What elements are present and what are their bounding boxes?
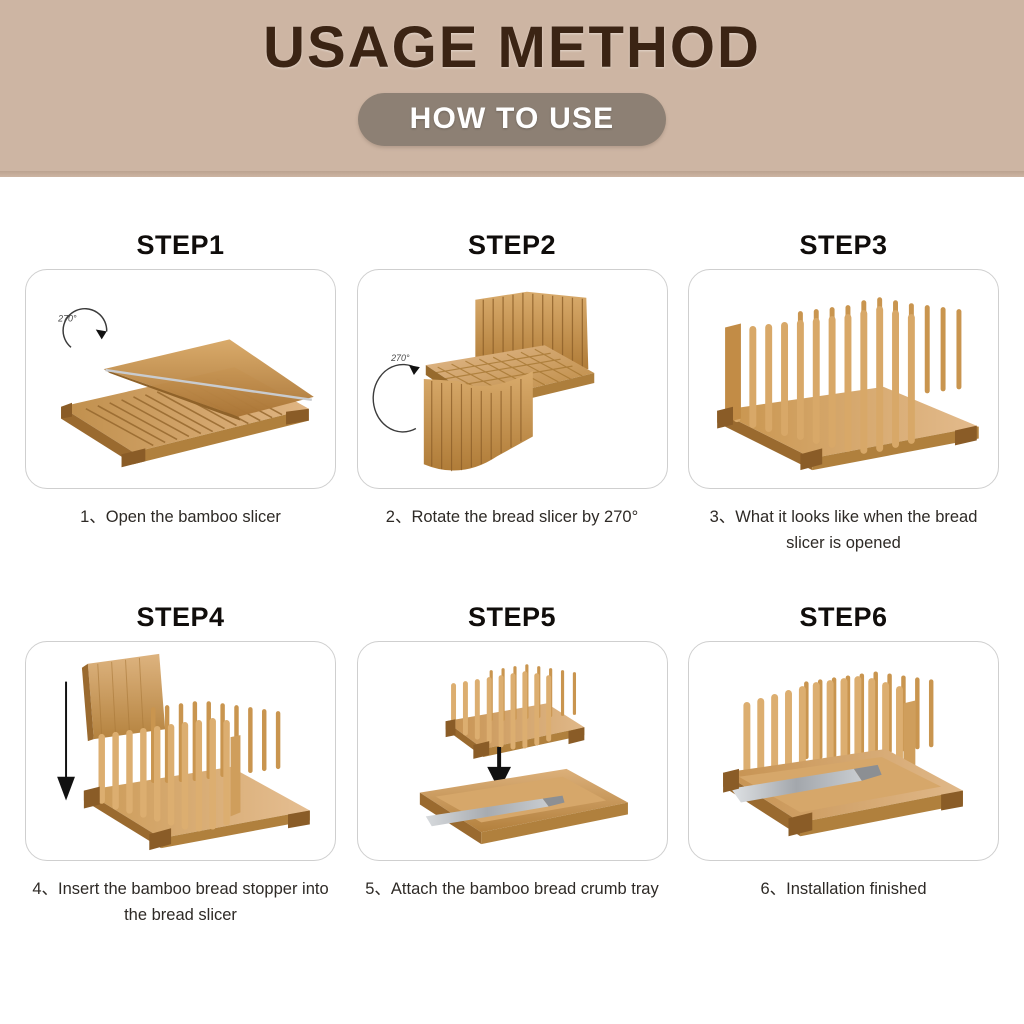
step-card-1: STEP1 xyxy=(20,232,341,530)
slicer-open-illustration xyxy=(717,300,979,470)
step-label-6: STEP6 xyxy=(799,604,887,631)
step-image-4 xyxy=(25,641,336,861)
slicer-rotated-illustration xyxy=(423,292,593,471)
assembled-slicer-illustration xyxy=(723,674,963,837)
page-title: USAGE METHOD xyxy=(263,17,761,80)
steps-row-1: STEP1 xyxy=(20,232,1004,556)
step-label-3: STEP3 xyxy=(799,232,887,259)
step-image-6 xyxy=(688,641,999,861)
slicer-base-illustration xyxy=(61,339,314,467)
rotation-arrow-270: 270° xyxy=(373,353,420,432)
slicer-with-stopper-illustration xyxy=(82,654,310,850)
step-caption-1: 1、Open the bamboo slicer xyxy=(31,504,331,530)
step-caption-4: 4、Insert the bamboo bread stopper into t… xyxy=(31,876,331,928)
annotation-270-label: 270° xyxy=(57,314,77,324)
step-caption-3: 3、What it looks like when the bread slic… xyxy=(694,504,994,556)
step-label-4: STEP4 xyxy=(136,604,224,631)
usage-method-infographic: USAGE METHOD HOW TO USE STEP1 xyxy=(0,0,1024,1024)
step-label-1: STEP1 xyxy=(136,232,224,259)
step-label-2: STEP2 xyxy=(468,232,556,259)
slicer-body-illustration xyxy=(445,666,584,759)
annotation-270-label: 270° xyxy=(390,353,410,363)
down-arrow-annotation xyxy=(57,682,75,801)
crumb-tray-illustration xyxy=(419,769,627,844)
step-image-1: 270° xyxy=(25,269,336,489)
step-image-2: 270° xyxy=(357,269,668,489)
rotation-arrow-270: 270° xyxy=(57,309,107,348)
step-image-3 xyxy=(688,269,999,489)
step-card-6: STEP6 xyxy=(683,604,1004,902)
step-caption-2: 2、Rotate the bread slicer by 270° xyxy=(362,504,662,530)
step-caption-5: 5、Attach the bamboo bread crumb tray xyxy=(362,876,662,902)
steps-row-2: STEP4 xyxy=(20,604,1004,928)
step-label-5: STEP5 xyxy=(468,604,556,631)
step-card-2: STEP2 xyxy=(352,232,673,530)
step-card-4: STEP4 xyxy=(20,604,341,928)
step-card-3: STEP3 xyxy=(683,232,1004,556)
steps-grid: STEP1 xyxy=(0,177,1024,1024)
how-to-use-badge: HOW TO USE xyxy=(358,93,667,146)
step-caption-6: 6、Installation finished xyxy=(694,876,994,902)
step-image-5 xyxy=(357,641,668,861)
header-banner: USAGE METHOD HOW TO USE xyxy=(0,0,1024,177)
step-card-5: STEP5 xyxy=(352,604,673,902)
